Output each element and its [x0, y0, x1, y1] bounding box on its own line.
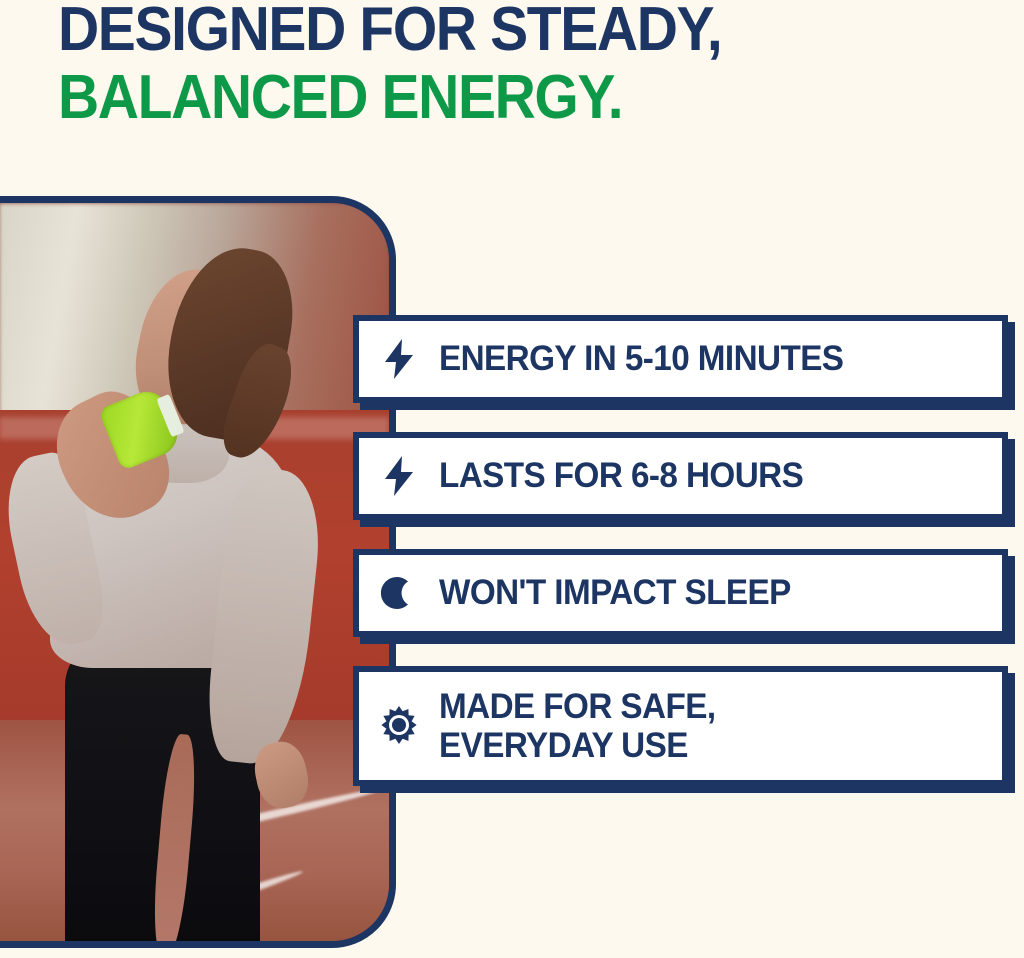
lightning-bolt-icon [379, 456, 419, 496]
lifestyle-photo [0, 203, 389, 941]
feature-card-safety: MADE FOR SAFE, EVERYDAY USE [353, 666, 1008, 786]
feature-card-duration: LASTS FOR 6-8 HOURS [353, 432, 1008, 520]
page-headline: DESIGNED FOR STEADY, BALANCED ENERGY. [58, 0, 998, 132]
feature-card-label-line-2: EVERYDAY USE [439, 726, 716, 765]
feature-card-sleep: WON'T IMPACT SLEEP [353, 549, 1008, 637]
feature-card-label-line-1: MADE FOR SAFE, [439, 687, 716, 726]
feature-card-label: LASTS FOR 6-8 HOURS [439, 457, 803, 495]
feature-card-list: ENERGY IN 5-10 MINUTES LASTS FOR 6-8 HOU… [353, 315, 1008, 815]
headline-line-1: DESIGNED FOR STEADY, [58, 0, 923, 64]
feature-card-energy-onset: ENERGY IN 5-10 MINUTES [353, 315, 1008, 403]
headline-line-2: BALANCED ENERGY. [58, 64, 923, 132]
lightning-bolt-icon [379, 339, 419, 379]
feature-card-label: WON'T IMPACT SLEEP [439, 574, 791, 612]
crescent-moon-icon [379, 573, 419, 613]
feature-card-label: ENERGY IN 5-10 MINUTES [439, 340, 843, 378]
sun-icon [379, 706, 419, 746]
lifestyle-photo-panel [0, 196, 396, 948]
feature-card-label: MADE FOR SAFE, EVERYDAY USE [439, 687, 716, 765]
